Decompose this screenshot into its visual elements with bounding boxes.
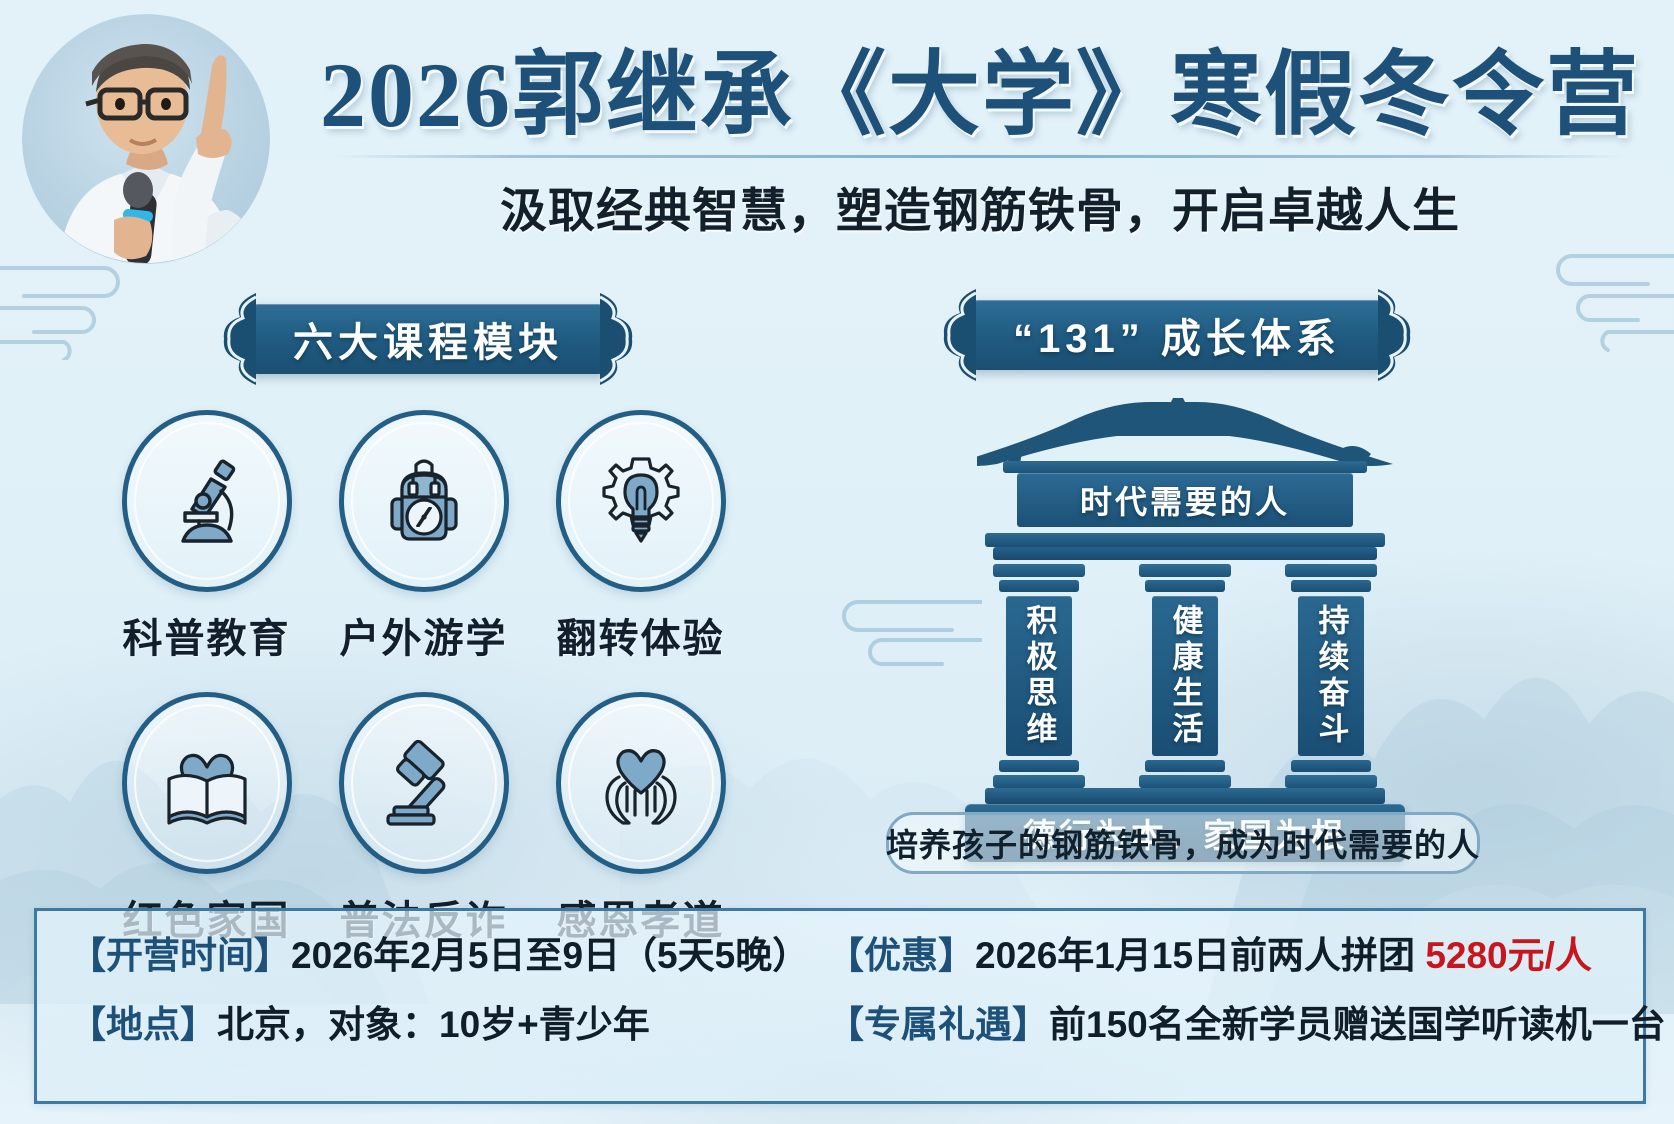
info-value: 北京，对象：10岁+青少年	[217, 1004, 650, 1045]
section-banner-growth-label: “131” 成长体系	[968, 300, 1386, 370]
module-label: 科普教育	[108, 606, 305, 664]
temple-entablature-top	[985, 533, 1385, 547]
section-banner-modules: 六大课程模块	[248, 304, 608, 374]
pillar-label: 持续奋斗	[1309, 604, 1354, 748]
info-key: 【地点】	[69, 1004, 217, 1045]
poster-canvas: 2026郭继承《大学》寒假冬令营 汲取经典智慧，塑造钢筋铁骨，开启卓越人生 六大…	[0, 0, 1674, 1124]
info-key: 【优惠】	[827, 935, 975, 976]
module-item-fanzhuan[interactable]: 翻转体验	[542, 410, 739, 664]
backpack-compass-icon	[376, 453, 472, 549]
pillar-label: 积极思维	[1017, 604, 1062, 748]
module-grid: 科普教育	[108, 410, 758, 946]
module-disc	[556, 410, 726, 592]
info-line-location: 【地点】北京，对象：10岁+青少年	[69, 1006, 809, 1043]
temple-pillar-2: 健康生活	[1139, 564, 1231, 788]
info-line-gift: 【专属礼遇】前150名全新学员赠送国学听读机一台	[827, 1006, 1637, 1043]
info-column-right: 【优惠】2026年1月15日前两人拼团 5280元/人 【专属礼遇】前150名全…	[827, 937, 1637, 1043]
pillar-label: 健康生活	[1163, 604, 1208, 748]
module-disc	[339, 410, 509, 592]
module-item-youxue[interactable]: 户外游学	[325, 410, 522, 664]
corner-ornament-tl	[34, 908, 53, 927]
module-label: 户外游学	[325, 606, 522, 664]
gear-lightbulb-icon	[593, 453, 689, 549]
growth-system-temple: 时代需要的人 积极思维 健康生活 持续奋斗 德行为本，家国为根	[955, 398, 1415, 798]
info-key: 【开营时间】	[69, 935, 291, 976]
info-column-left: 【开营时间】2026年2月5日至9日（5天5晚） 【地点】北京，对象：10岁+青…	[69, 937, 809, 1043]
info-value: 前150名全新学员赠送国学听读机一台	[1049, 1004, 1666, 1045]
page-title: 2026郭继承《大学》寒假冬令营	[300, 46, 1660, 145]
module-label: 翻转体验	[542, 606, 739, 664]
temple-architrave	[1003, 461, 1367, 473]
info-value: 2026年1月15日前两人拼团	[975, 935, 1425, 976]
temple-pillar-3: 持续奋斗	[1285, 564, 1377, 788]
title-divider	[335, 155, 1625, 158]
poster-header: 2026郭继承《大学》寒假冬令营 汲取经典智慧，塑造钢筋铁骨，开启卓越人生	[0, 0, 1674, 278]
info-key: 【专属礼遇】	[827, 1004, 1049, 1045]
corner-ornament-br	[1627, 1085, 1646, 1104]
info-value: 2026年2月5日至9日（5天5晚）	[291, 935, 809, 976]
module-disc	[339, 692, 509, 874]
info-line-schedule: 【开营时间】2026年2月5日至9日（5天5晚）	[69, 937, 809, 974]
temple-entablature-bottom	[993, 547, 1377, 560]
page-subtitle: 汲取经典智慧，塑造钢筋铁骨，开启卓越人生	[300, 172, 1660, 241]
corner-ornament-bl	[34, 1085, 53, 1104]
growth-system-tagline: 培养孩子的钢筋铁骨，成为时代需要的人	[886, 812, 1480, 874]
price-highlight: 5280元/人	[1425, 935, 1592, 976]
module-disc	[122, 410, 292, 592]
instructor-portrait	[22, 14, 270, 264]
temple-plaque: 时代需要的人	[1017, 473, 1353, 527]
section-banner-growth: “131” 成长体系	[968, 300, 1386, 370]
module-item-kepu[interactable]: 科普教育	[108, 410, 305, 664]
module-disc	[122, 692, 292, 874]
title-block: 2026郭继承《大学》寒假冬令营 汲取经典智慧，塑造钢筋铁骨，开启卓越人生	[300, 46, 1660, 241]
temple-roof-icon	[977, 398, 1393, 468]
hands-heart-icon	[593, 735, 689, 831]
temple-stylobate	[985, 788, 1385, 804]
module-row-1: 科普教育	[108, 410, 758, 664]
corner-ornament-tr	[1627, 908, 1646, 927]
module-disc	[556, 692, 726, 874]
section-banner-modules-label: 六大课程模块	[248, 304, 608, 374]
heart-book-icon	[159, 735, 255, 831]
microscope-icon	[159, 453, 255, 549]
info-line-discount: 【优惠】2026年1月15日前两人拼团 5280元/人	[827, 937, 1637, 974]
gavel-icon	[376, 735, 472, 831]
temple-pillar-1: 积极思维	[993, 564, 1085, 788]
info-panel: 【开营时间】2026年2月5日至9日（5天5晚） 【地点】北京，对象：10岁+青…	[34, 908, 1646, 1104]
